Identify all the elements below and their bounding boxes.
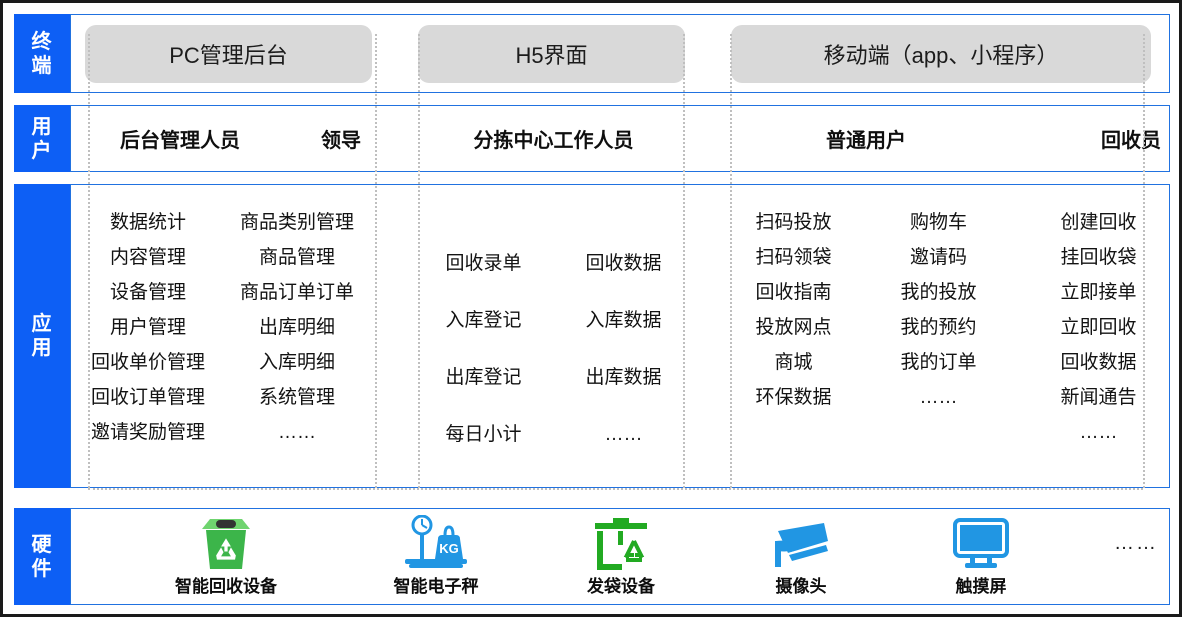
app-item[interactable]: 内容管理 bbox=[83, 240, 213, 275]
terminal-chip-mobile-label: 移动端（app、小程序） bbox=[824, 38, 1059, 70]
app-item[interactable]: 回收订单管理 bbox=[83, 380, 213, 415]
user-sorting-center-staff-label: 分拣中心工作人员 bbox=[474, 124, 634, 153]
user-backend-admin-staff: 后台管理人员 bbox=[85, 106, 275, 171]
app-item[interactable]: 出库数据 bbox=[561, 349, 686, 406]
band-hardware-label-char-2: 件 bbox=[32, 557, 53, 581]
app-item[interactable]: 投放网点 bbox=[731, 310, 856, 345]
terminal-chip-pc-label: PC管理后台 bbox=[169, 38, 288, 70]
user-sorting-center-staff: 分拣中心工作人员 bbox=[421, 106, 686, 171]
app-item[interactable]: 回收数据 bbox=[561, 235, 686, 292]
hardware-bag-dispenser-device-label: 发袋设备 bbox=[587, 572, 655, 597]
app-item[interactable]: 每日小计 bbox=[421, 406, 546, 463]
hardware-ellipsis-label: …… bbox=[1114, 515, 1158, 571]
band-app-body: 数据统计 内容管理 设备管理 用户管理 回收单价管理 回收订单管理 邀请奖励管理… bbox=[70, 184, 1170, 488]
bag-dispenser-icon bbox=[589, 515, 653, 571]
band-user-label-char-1: 用 bbox=[32, 115, 53, 139]
app-item[interactable]: 入库登记 bbox=[421, 292, 546, 349]
app-item[interactable]: 我的预约 bbox=[876, 310, 1001, 345]
app-item-ellipsis: …… bbox=[561, 406, 686, 463]
app-item[interactable]: 邀请奖励管理 bbox=[83, 415, 213, 450]
app-item[interactable]: 设备管理 bbox=[83, 275, 213, 310]
app-item[interactable]: 商品类别管理 bbox=[219, 205, 375, 240]
column-divider-2 bbox=[375, 34, 377, 488]
app-column-h5-col-2: 回收数据 入库数据 出库数据 …… bbox=[561, 185, 686, 487]
app-item[interactable]: 回收单价管理 bbox=[83, 345, 213, 380]
terminal-chip-h5-label: H5界面 bbox=[515, 38, 587, 70]
user-recycler: 回收员 bbox=[1051, 106, 1182, 171]
band-hardware-body: 智能回收设备 bbox=[70, 508, 1170, 605]
app-item[interactable]: 系统管理 bbox=[219, 380, 375, 415]
app-item[interactable]: 环保数据 bbox=[731, 380, 856, 415]
terminal-chip-mobile-client[interactable]: 移动端（app、小程序） bbox=[731, 25, 1151, 83]
ellipsis-icon: …… bbox=[1114, 515, 1158, 571]
app-item[interactable]: 入库明细 bbox=[219, 345, 375, 380]
band-app-label-char-2: 用 bbox=[32, 336, 53, 360]
hardware-smart-recycling-device[interactable]: 智能回收设备 bbox=[151, 515, 301, 601]
user-recycler-label: 回收员 bbox=[1101, 124, 1161, 153]
app-column-pc-col-1: 数据统计 内容管理 设备管理 用户管理 回收单价管理 回收订单管理 邀请奖励管理 bbox=[83, 185, 213, 487]
hardware-bag-dispenser-device[interactable]: 发袋设备 bbox=[546, 515, 696, 601]
app-item[interactable]: 回收指南 bbox=[731, 275, 856, 310]
app-item[interactable]: 扫码投放 bbox=[731, 205, 856, 240]
hardware-more-hardware: …… bbox=[1061, 515, 1182, 601]
hardware-camera-device[interactable]: 摄像头 bbox=[726, 515, 876, 601]
app-item[interactable]: 商品订单订单 bbox=[219, 275, 375, 310]
hardware-smart-electronic-scale[interactable]: KG 智能电子秤 bbox=[361, 515, 511, 601]
band-user-label: 用 户 bbox=[14, 105, 70, 172]
app-item[interactable]: 邀请码 bbox=[876, 240, 1001, 275]
app-column-h5-col-1: 回收录单 入库登记 出库登记 每日小计 bbox=[421, 185, 546, 487]
app-item[interactable]: 出库明细 bbox=[219, 310, 375, 345]
terminal-chip-pc-admin-console[interactable]: PC管理后台 bbox=[85, 25, 372, 83]
hardware-smart-electronic-scale-label: 智能电子秤 bbox=[394, 572, 479, 597]
user-normal-user-label: 普通用户 bbox=[826, 124, 906, 153]
band-hardware: 硬 件 bbox=[14, 508, 1170, 605]
band-terminal-label: 终 端 bbox=[14, 14, 70, 93]
app-item[interactable]: 商品管理 bbox=[219, 240, 375, 275]
app-item[interactable]: 我的投放 bbox=[876, 275, 1001, 310]
column-divider-3 bbox=[418, 34, 420, 488]
monitor-icon bbox=[949, 515, 1013, 571]
app-item[interactable]: 回收录单 bbox=[421, 235, 546, 292]
app-item[interactable]: 我的订单 bbox=[876, 345, 1001, 380]
diagram-inner: 终 端 PC管理后台 H5界面 移动端（app、小程序） bbox=[14, 14, 1170, 605]
column-divider-6 bbox=[1143, 34, 1145, 488]
terminal-chip-h5-interface[interactable]: H5界面 bbox=[418, 25, 685, 83]
user-leadership: 领导 bbox=[286, 106, 396, 171]
app-item-ellipsis: …… bbox=[876, 380, 1001, 415]
hardware-touch-screen-device-label: 触摸屏 bbox=[956, 572, 1007, 597]
app-column-pc-col-2: 商品类别管理 商品管理 商品订单订单 出库明细 入库明细 系统管理 …… bbox=[219, 185, 375, 487]
band-terminal: 终 端 PC管理后台 H5界面 移动端（app、小程序） bbox=[14, 14, 1170, 93]
app-item[interactable]: 出库登记 bbox=[421, 349, 546, 406]
band-terminal-label-char-2: 端 bbox=[32, 54, 53, 78]
user-backend-admin-staff-label: 后台管理人员 bbox=[120, 124, 240, 153]
app-item[interactable]: 商城 bbox=[731, 345, 856, 380]
app-bottom-dots bbox=[88, 488, 1143, 490]
band-terminal-body: PC管理后台 H5界面 移动端（app、小程序） bbox=[70, 14, 1170, 93]
band-hardware-label-char-1: 硬 bbox=[32, 533, 53, 557]
app-item[interactable]: 入库数据 bbox=[561, 292, 686, 349]
band-app-label: 应 用 bbox=[14, 184, 70, 488]
app-column-mobile-col-2: 购物车 邀请码 我的投放 我的预约 我的订单 …… bbox=[876, 185, 1001, 487]
svg-text:KG: KG bbox=[439, 541, 459, 556]
app-item[interactable]: 数据统计 bbox=[83, 205, 213, 240]
band-app-label-char-1: 应 bbox=[32, 312, 53, 336]
cctv-camera-icon bbox=[766, 515, 836, 571]
recycle-bin-icon bbox=[194, 515, 258, 571]
column-divider-5 bbox=[730, 34, 732, 488]
weighing-scale-icon: KG bbox=[401, 515, 471, 571]
app-item[interactable]: 扫码领袋 bbox=[731, 240, 856, 275]
app-grid: 数据统计 内容管理 设备管理 用户管理 回收单价管理 回收订单管理 邀请奖励管理… bbox=[71, 185, 1169, 487]
band-app: 应 用 数据统计 内容管理 设备管理 用户管理 回收单价管理 回收订单管理 邀请… bbox=[14, 184, 1170, 488]
app-column-mobile-col-1: 扫码投放 扫码领袋 回收指南 投放网点 商城 环保数据 bbox=[731, 185, 856, 487]
band-user-body: 后台管理人员 领导 分拣中心工作人员 普通用户 回收员 bbox=[70, 105, 1170, 172]
terminal-row: PC管理后台 H5界面 移动端（app、小程序） bbox=[71, 15, 1169, 92]
band-user-label-char-2: 户 bbox=[32, 139, 53, 163]
user-row: 后台管理人员 领导 分拣中心工作人员 普通用户 回收员 bbox=[71, 106, 1169, 171]
column-divider-1 bbox=[88, 34, 90, 488]
column-divider-4 bbox=[683, 34, 685, 488]
user-normal-user: 普通用户 bbox=[731, 106, 1001, 171]
user-leadership-label: 领导 bbox=[321, 124, 361, 153]
band-terminal-label-char-1: 终 bbox=[32, 30, 53, 54]
architecture-diagram: 终 端 PC管理后台 H5界面 移动端（app、小程序） bbox=[0, 0, 1182, 617]
app-item[interactable]: 用户管理 bbox=[83, 310, 213, 345]
band-user: 用 户 后台管理人员 领导 分拣中心工作人员 普通用户 bbox=[14, 105, 1170, 172]
hardware-row: 智能回收设备 bbox=[71, 509, 1169, 604]
app-item-ellipsis: …… bbox=[219, 415, 375, 450]
hardware-smart-recycling-device-label: 智能回收设备 bbox=[175, 572, 277, 597]
hardware-camera-device-label: 摄像头 bbox=[776, 572, 827, 597]
band-hardware-label: 硬 件 bbox=[14, 508, 70, 605]
app-item[interactable]: 购物车 bbox=[876, 205, 1001, 240]
hardware-touch-screen-device[interactable]: 触摸屏 bbox=[906, 515, 1056, 601]
